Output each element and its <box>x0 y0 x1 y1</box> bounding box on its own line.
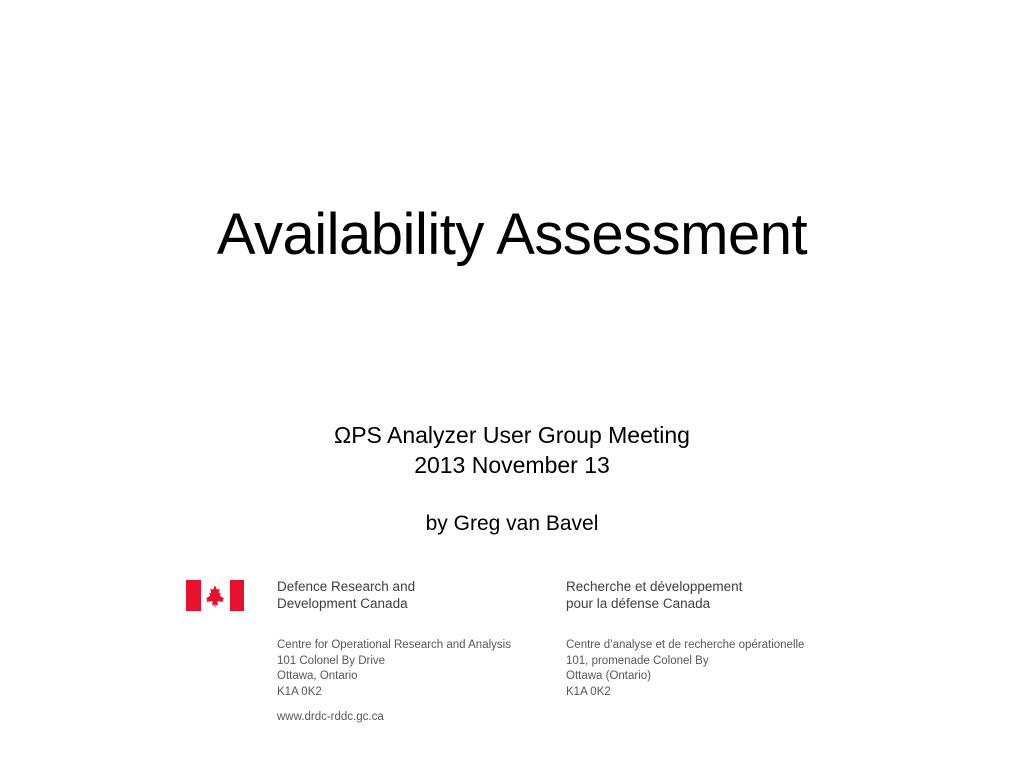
subtitle-line-date: 2013 November 13 <box>0 450 1024 480</box>
maple-leaf-icon <box>205 585 225 607</box>
address-row: Centre for Operational Research and Anal… <box>186 638 886 702</box>
organization-name-french: Recherche et développement pour la défen… <box>566 578 742 612</box>
slide-title: Availability Assessment <box>0 205 1024 266</box>
slide-byline-author: by Greg van Bavel <box>0 510 1024 538</box>
address-english: Centre for Operational Research and Anal… <box>277 638 511 700</box>
address-english-line3: Ottawa, Ontario <box>277 669 511 685</box>
address-english-line2: 101 Colonel By Drive <box>277 654 511 670</box>
address-french-line1: Centre d’analyse et de recherche opérati… <box>566 638 804 654</box>
subtitle-line-event: ΩPS Analyzer User Group Meeting <box>0 420 1024 450</box>
address-french-line3: Ottawa (Ontario) <box>566 669 804 685</box>
address-english-line1: Centre for Operational Research and Anal… <box>277 638 511 654</box>
drdc-signature-block: Defence Research and Development Canada … <box>186 578 886 702</box>
logo-top-row: Defence Research and Development Canada … <box>186 578 886 620</box>
address-english-line4: K1A 0K2 <box>277 685 511 701</box>
organization-name-french-line1: Recherche et développement <box>566 578 742 595</box>
slide-subtitle: ΩPS Analyzer User Group Meeting 2013 Nov… <box>0 420 1024 480</box>
flag-left-band <box>186 580 201 611</box>
address-french-line2: 101, promenade Colonel By <box>566 654 804 670</box>
canadian-flag-icon <box>186 580 244 611</box>
flag-right-band <box>230 580 245 611</box>
organization-name-english: Defence Research and Development Canada <box>277 578 415 612</box>
presentation-slide: Availability Assessment ΩPS Analyzer Use… <box>0 0 1024 768</box>
organization-name-english-line2: Development Canada <box>277 595 415 612</box>
address-french-line4: K1A 0K2 <box>566 685 804 701</box>
address-french: Centre d’analyse et de recherche opérati… <box>566 638 804 700</box>
organization-name-english-line1: Defence Research and <box>277 578 415 595</box>
organization-name-french-line2: pour la défense Canada <box>566 595 742 612</box>
website-url[interactable]: www.drdc-rddc.gc.ca <box>277 710 384 726</box>
flag-center-panel <box>201 580 230 611</box>
